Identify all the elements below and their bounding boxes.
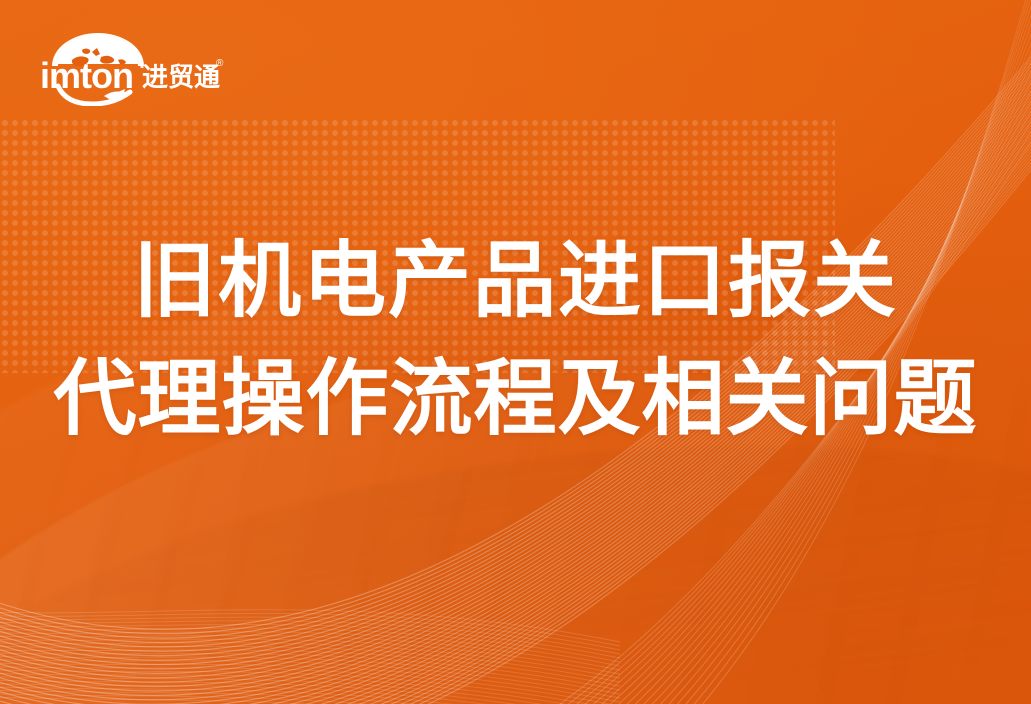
banner-canvas: imton 进贸通 ® 旧机电产品进口报关 代理操作流程及相关问题 — [0, 0, 1031, 704]
page-title: 旧机电产品进口报关 代理操作流程及相关问题 — [0, 222, 1031, 458]
title-line-2: 代理操作流程及相关问题 — [0, 340, 1031, 458]
logo-wordmark: imton — [40, 55, 133, 96]
logo-cn-name: 进贸通 — [142, 62, 220, 92]
title-line-1: 旧机电产品进口报关 — [0, 222, 1031, 340]
trademark-symbol: ® — [216, 58, 224, 69]
brand-logo[interactable]: imton 进贸通 ® — [38, 26, 228, 106]
